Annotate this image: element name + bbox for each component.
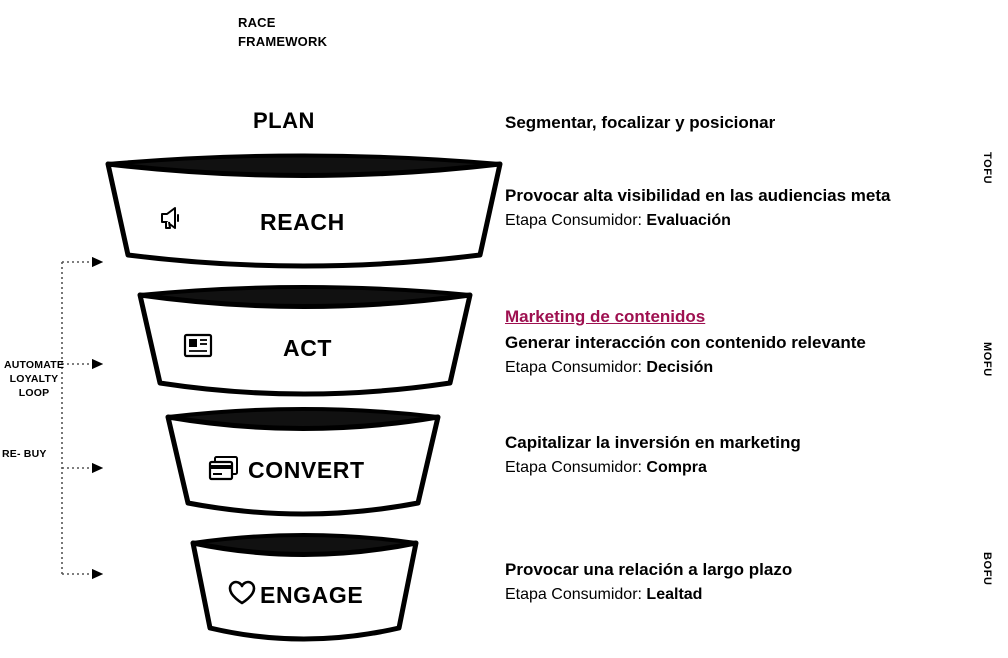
description-block-engage: Provocar una relación a largo plazo Etap…: [505, 557, 975, 607]
race-title-line2: FRAMEWORK: [238, 32, 438, 51]
stage-prefix-convert: Etapa Consumidor:: [505, 459, 642, 476]
re-buy-label: RE- BUY: [2, 447, 62, 461]
automate-loop-line3: LOOP: [2, 386, 66, 400]
stage-value-reach: Evaluación: [646, 212, 730, 229]
automate-loyalty-loop-label: AUTOMATE LOYALTY LOOP: [2, 358, 66, 400]
stage-prefix-reach: Etapa Consumidor:: [505, 212, 642, 229]
stage-value-act: Decisión: [646, 359, 713, 376]
automate-loop-line2: LOYALTY: [2, 372, 66, 386]
description-stage-act: Etapa Consumidor: Decisión: [505, 356, 975, 380]
description-stage-engage: Etapa Consumidor: Lealtad: [505, 583, 975, 607]
description-heading-convert: Capitalizar la inversión en marketing: [505, 430, 975, 455]
description-heading-reach: Provocar alta visibilidad en las audienc…: [505, 183, 975, 208]
stage-prefix-act: Etapa Consumidor:: [505, 359, 642, 376]
credit-card-icon: [210, 457, 237, 479]
automate-loop-line1: AUTOMATE: [2, 358, 66, 372]
funnel-stage-engage-label: ENGAGE: [260, 582, 363, 608]
loyalty-loop-arrows: [0, 240, 125, 585]
stage-value-convert: Compra: [646, 459, 706, 476]
stage-prefix-engage: Etapa Consumidor:: [505, 586, 642, 603]
plan-label: PLAN: [253, 108, 315, 134]
tofu-label: TOFU: [981, 152, 993, 184]
description-block-convert: Capitalizar la inversión en marketing Et…: [505, 430, 975, 480]
plan-description: Segmentar, focalizar y posicionar: [505, 113, 775, 133]
funnel-stage-convert-label: CONVERT: [248, 457, 365, 483]
stage-value-engage: Lealtad: [646, 586, 702, 603]
race-title-line1: RACE: [238, 15, 276, 30]
funnel-stage-reach-label: REACH: [260, 209, 345, 235]
description-stage-convert: Etapa Consumidor: Compra: [505, 456, 975, 480]
description-stage-reach: Etapa Consumidor: Evaluación: [505, 209, 975, 233]
description-heading-engage: Provocar una relación a largo plazo: [505, 557, 975, 582]
race-framework-title: RACE FRAMEWORK: [238, 13, 438, 51]
newspaper-icon: [185, 335, 211, 356]
mofu-label: MOFU: [981, 342, 993, 377]
funnel-stage-act-label: ACT: [283, 335, 332, 361]
description-block-reach: Provocar alta visibilidad en las audienc…: [505, 183, 975, 233]
bofu-label: BOFU: [981, 552, 993, 586]
description-heading-act: Generar interacción con contenido releva…: [505, 330, 975, 355]
race-funnel-diagram: REACH ACT CONVERT ENGAGE: [88, 145, 518, 657]
description-block-act: Marketing de contenidos Generar interacc…: [505, 305, 975, 380]
marketing-contenidos-link[interactable]: Marketing de contenidos: [505, 305, 705, 329]
